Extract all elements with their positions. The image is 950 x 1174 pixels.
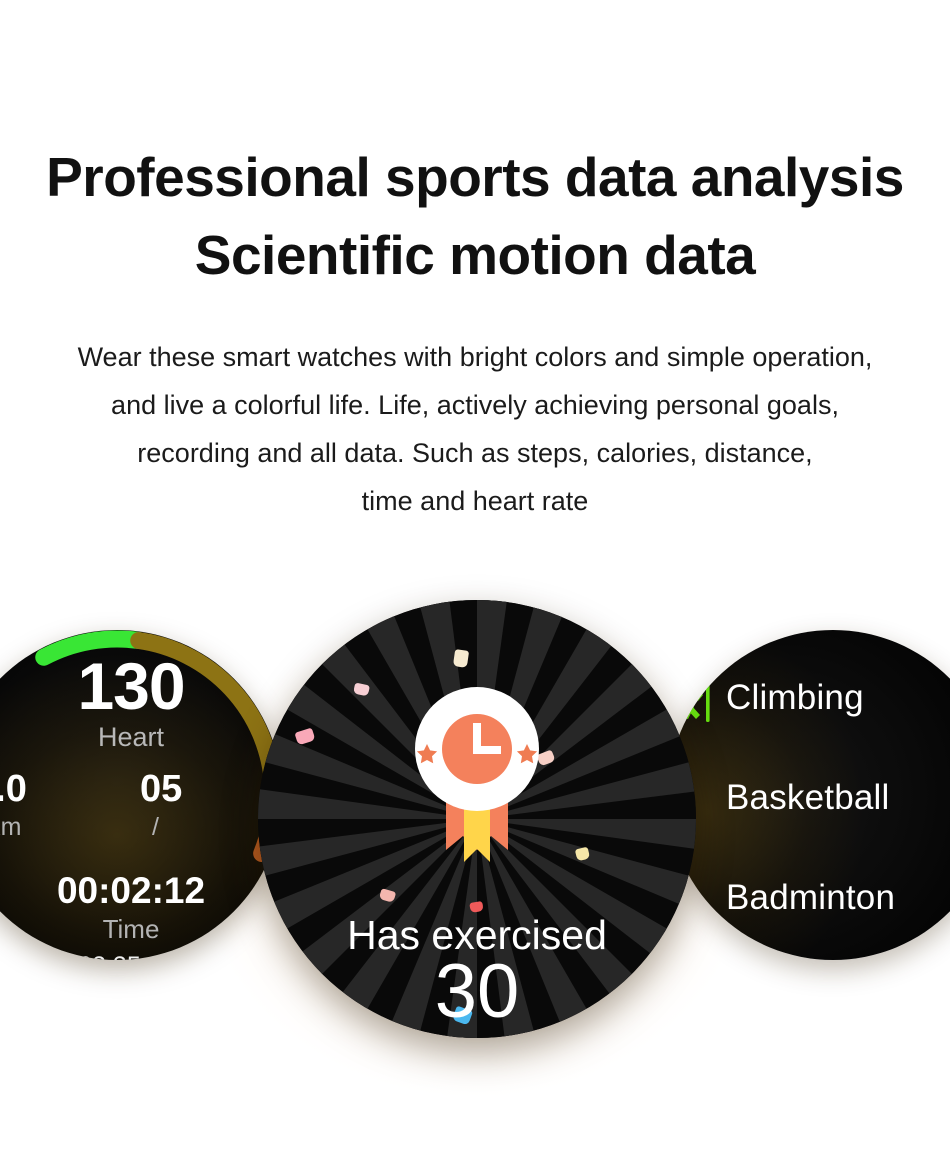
heart-rate-label: Heart xyxy=(0,722,282,753)
sport-mode-label: Badminton xyxy=(726,878,895,918)
duration-label: Time xyxy=(0,914,282,945)
sport-mode-item-badminton[interactable]: Badminton xyxy=(668,872,950,924)
description-line-2: and live a colorful life. Life, actively… xyxy=(0,381,950,429)
achievement-content: Has exercised 30 Min xyxy=(258,600,696,1038)
watch-face-exercise-achievement[interactable]: Has exercised 30 Min xyxy=(258,600,696,1038)
sport-mode-item-climbing[interactable]: Climbing xyxy=(668,672,950,724)
calories-value: 05 xyxy=(140,768,182,811)
sport-mode-label: Basketball xyxy=(726,778,889,818)
headline-line-2: Scientific motion data xyxy=(0,216,950,294)
page-description: Wear these smart watches with bright col… xyxy=(0,333,950,525)
sport-mode-item-basketball[interactable]: Basketball xyxy=(668,772,950,824)
watch-showcase: 130 Heart 0.0 Km 05 / 00:02:12 Time 03:3… xyxy=(0,520,950,1174)
left-watch-readouts: 130 Heart 0.0 Km 05 / 00:02:12 Time 03:3… xyxy=(0,630,282,960)
page-title: Professional sports data analysis Scient… xyxy=(0,138,950,294)
watch-face-workout-stats[interactable]: 130 Heart 0.0 Km 05 / 00:02:12 Time 03:3… xyxy=(0,630,282,960)
watch-face-sport-modes[interactable]: ClimbingBasketballBadmintonFootball xyxy=(668,630,950,960)
calories-label: / xyxy=(152,813,159,842)
description-line-3: recording and all data. Such as steps, c… xyxy=(0,429,950,477)
sport-mode-label: Climbing xyxy=(726,678,864,718)
description-line-1: Wear these smart watches with bright col… xyxy=(0,333,950,381)
achievement-unit: Min xyxy=(258,1037,696,1038)
distance-value: 0.0 xyxy=(0,768,27,811)
clock-time: 03:35 AM xyxy=(0,952,282,960)
marketing-page: Professional sports data analysis Scient… xyxy=(0,0,950,1174)
description-line-4: time and heart rate xyxy=(0,477,950,525)
distance-label: Km xyxy=(0,813,22,842)
duration-value: 00:02:12 xyxy=(0,870,282,912)
headline-line-1: Professional sports data analysis xyxy=(0,138,950,216)
heart-rate-value: 130 xyxy=(0,648,282,724)
clock-medal-icon xyxy=(402,686,552,875)
sport-mode-list[interactable]: ClimbingBasketballBadmintonFootball xyxy=(668,630,950,960)
achievement-value: 30 xyxy=(258,954,696,1030)
